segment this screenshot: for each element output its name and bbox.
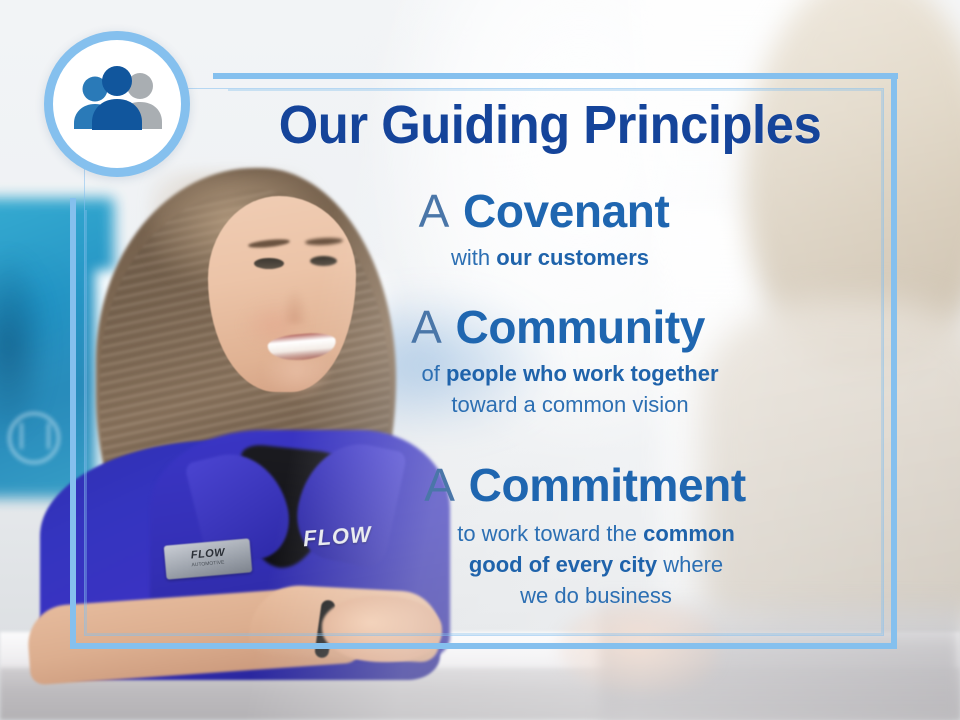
subline-segment: we do business [520,583,672,608]
principle-article: A [419,185,451,237]
page-title: Our Guiding Principles [234,96,866,154]
principle-word: Community [456,301,705,353]
subline-segment: toward a common vision [451,392,688,417]
subline-segment-bold: people who work together [446,361,719,386]
people-group-icon [70,64,166,134]
principle-subline: of people who work together [254,358,886,389]
guiding-principles-graphic: FLOW FLOW AUTOMOTIVE [0,0,960,720]
subline-segment: to work toward the [457,521,643,546]
subline-segment: of [421,361,445,386]
principle-block-community: A Community of people who work together … [214,302,886,420]
subline-segment-bold: good of every city [469,552,657,577]
principle-article: A [411,301,443,353]
principle-subtext: with our customers [214,242,886,273]
principle-subline: good of every city where [306,549,886,580]
principle-subline: toward a common vision [254,389,886,420]
principle-heading: A Community [214,302,886,352]
subline-segment-bold: our customers [496,245,649,270]
principle-heading: A Covenant [214,186,886,236]
principle-subline: with our customers [214,242,886,273]
subline-segment: where [657,552,723,577]
principle-subtext: of people who work together toward a com… [214,358,886,420]
principle-block-commitment: A Commitment to work toward the common g… [214,460,886,611]
principle-heading: A Commitment [214,460,886,510]
principle-block-covenant: A Covenant with our customers [214,186,886,273]
subline-segment: with [451,245,496,270]
customer-hand-blurred [558,602,718,692]
principle-subline: we do business [306,580,886,611]
subline-segment-bold: common [643,521,735,546]
principle-subtext: to work toward the common good of every … [214,518,886,611]
principle-article: A [424,459,456,511]
principle-word: Covenant [463,185,669,237]
principle-word: Commitment [469,459,746,511]
principle-subline: to work toward the common [306,518,886,549]
